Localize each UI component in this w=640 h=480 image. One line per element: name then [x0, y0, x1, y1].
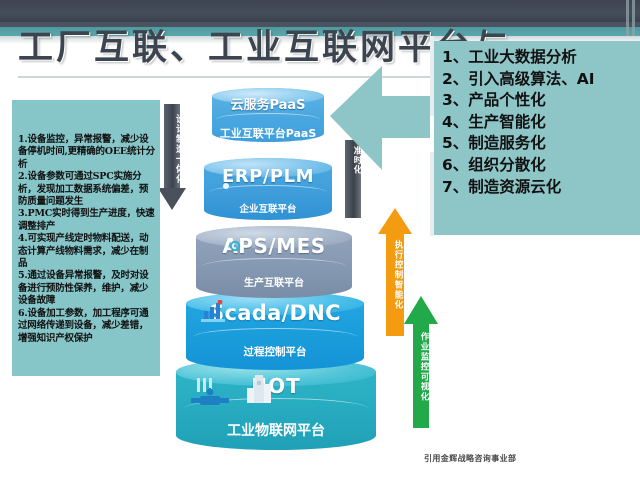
header-tick-b	[632, 0, 635, 36]
gear-icon	[228, 238, 242, 257]
goal-item: 5、制造服务化	[442, 133, 636, 155]
stack-layer-apsmes[interactable]: APS/MES 生产互联平台	[196, 226, 352, 298]
goal-number: 1、	[442, 48, 468, 66]
stack-sub-erpplm: 企业互联平台	[204, 201, 332, 215]
stack-label-paas: 云服务PaaS	[212, 94, 324, 113]
stack-sub-apsmes: 生产互联平台	[196, 274, 352, 289]
goal-item: 2、引入高级算法、AI	[442, 69, 636, 91]
credit-text: 引用金辉战略咨询事业部	[424, 453, 516, 464]
goal-number: 5、	[442, 134, 468, 152]
goal-text: 产品个性化	[468, 91, 546, 109]
arrow-head	[158, 188, 186, 210]
arrow-execution-label: 执行控制智能化	[387, 240, 403, 310]
goal-text: 制造资源云化	[468, 178, 561, 196]
goal-item: 1、工业大数据分析	[442, 47, 636, 69]
goal-item: 7、制造资源云化	[442, 177, 636, 199]
goal-item: 6、组织分散化	[442, 155, 636, 177]
benefit-item: 2.设备参数可通过SPC实施分析，发现加工数据系统偏差，预防质量问题发生	[18, 171, 155, 208]
stack-label-apsmes: APS/MES	[196, 234, 352, 258]
goal-text: 组织分散化	[468, 156, 546, 174]
slide-canvas: 工厂互联、工业互联网平台与 IIOT 工业物联网平台 Scada/DNC 过程控…	[0, 0, 640, 480]
arrow-head	[378, 208, 412, 234]
arrow-design-label: 设计制造一体化	[160, 114, 184, 184]
goal-text: 制造服务化	[468, 134, 546, 152]
arrow-visualization[interactable]: 作业监控可视化	[404, 296, 438, 428]
benefits-panel: 1.设备监控，异常报警，减少设备停机时间,更精确的OEE统计分析 2.设备参数可…	[12, 100, 160, 376]
goal-text: 生产智能化	[468, 113, 546, 131]
benefit-item: 1.设备监控，异常报警，减少设备停机时间,更精确的OEE统计分析	[18, 134, 155, 171]
header-tick-a	[626, 0, 629, 36]
factory-icon	[244, 372, 274, 410]
goal-item: 4、生产智能化	[442, 112, 636, 134]
benefit-item: 4.可实现产线定时物料配送，动态计算产线物料需求，减少在制品	[18, 233, 155, 270]
stack-sub-scada: 过程控制平台	[186, 344, 364, 359]
header-band-dark	[0, 0, 640, 22]
cylinder-ring	[216, 113, 319, 126]
stack-sub-iiot: 工业物联网平台	[176, 420, 376, 440]
benefit-item: 5.通过设备异常报警，及时对设备进行预防性保养，维护，减少设备故障	[18, 270, 155, 307]
cylinder-ring	[202, 258, 346, 275]
benefit-item: 3.PMC实时得到生产进度，快速调整排产	[18, 208, 155, 233]
goal-number: 7、	[442, 178, 468, 196]
arrow-visualization-label: 作业监控可视化	[414, 332, 429, 402]
goal-number: 2、	[442, 70, 468, 88]
arrow-head	[404, 296, 438, 324]
goal-item: 3、产品个性化	[442, 90, 636, 112]
goals-panel: 1、工业大数据分析 2、引入高级算法、AI 3、产品个性化 4、生产智能化 5、…	[434, 41, 640, 235]
benefit-item: 6.设备加工参数，加工程序可通过网络传递到设备，减少差错，增强知识产权保护	[18, 308, 155, 345]
dot-icon	[222, 175, 230, 194]
bar-chart-icon	[200, 300, 226, 328]
goal-text: 引入高级算法、AI	[468, 70, 594, 88]
valve-icon	[188, 376, 232, 420]
goal-text: 工业大数据分析	[468, 48, 577, 66]
goal-number: 6、	[442, 156, 468, 174]
stack-layer-paas[interactable]: 云服务PaaS 工业互联平台PaaS	[212, 88, 324, 142]
stack-sub-paas: 工业互联平台PaaS	[212, 125, 324, 141]
goal-number: 4、	[442, 113, 468, 131]
arrow-design-integration[interactable]: 设计制造一体化	[160, 104, 184, 212]
goal-number: 3、	[442, 91, 468, 109]
